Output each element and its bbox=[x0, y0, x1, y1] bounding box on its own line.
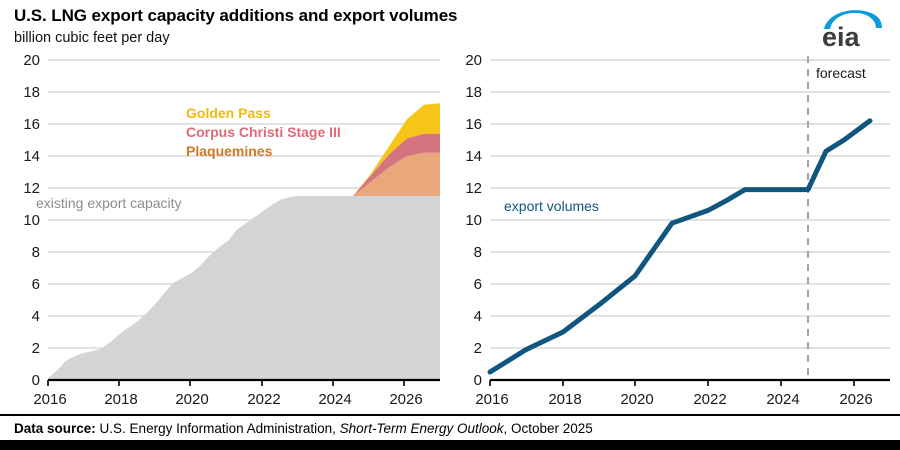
svg-text:18: 18 bbox=[465, 84, 482, 101]
forecast-label: forecast bbox=[816, 65, 866, 81]
svg-text:4: 4 bbox=[32, 308, 40, 325]
svg-text:14: 14 bbox=[465, 148, 482, 165]
svg-text:8: 8 bbox=[474, 244, 482, 261]
svg-text:0: 0 bbox=[32, 372, 40, 389]
line-export-volumes bbox=[490, 121, 870, 372]
svg-text:2016: 2016 bbox=[33, 391, 66, 408]
svg-text:10: 10 bbox=[23, 212, 40, 229]
svg-text:2020: 2020 bbox=[175, 391, 208, 408]
data-source-label: Data source: bbox=[14, 421, 96, 436]
svg-text:16: 16 bbox=[465, 116, 482, 133]
svg-text:2018: 2018 bbox=[548, 391, 581, 408]
svg-text:2022: 2022 bbox=[247, 391, 280, 408]
legend-corpus-christi: Corpus Christi Stage III bbox=[186, 124, 341, 140]
left-y-axis-labels: 20 18 16 14 12 10 8 6 4 2 0 bbox=[23, 52, 40, 389]
svg-text:10: 10 bbox=[465, 212, 482, 229]
svg-text:20: 20 bbox=[23, 52, 40, 69]
footer-bar bbox=[0, 440, 900, 450]
svg-text:2: 2 bbox=[474, 340, 482, 357]
svg-text:2020: 2020 bbox=[620, 391, 653, 408]
svg-text:2016: 2016 bbox=[475, 391, 508, 408]
left-chart-svg: Golden Pass Corpus Christi Stage III Pla… bbox=[0, 0, 460, 412]
data-source-date: , October 2025 bbox=[504, 421, 593, 436]
svg-text:14: 14 bbox=[23, 148, 40, 165]
right-y-axis-labels: 20 18 16 14 12 10 8 6 4 2 0 bbox=[465, 52, 482, 389]
svg-text:4: 4 bbox=[474, 308, 482, 325]
left-chart-panel: Golden Pass Corpus Christi Stage III Pla… bbox=[0, 0, 460, 450]
svg-text:2024: 2024 bbox=[766, 391, 799, 408]
legend-golden-pass: Golden Pass bbox=[186, 105, 271, 121]
svg-text:6: 6 bbox=[32, 276, 40, 293]
data-source-agency: U.S. Energy Information Administration, bbox=[100, 421, 336, 436]
svg-text:12: 12 bbox=[465, 180, 482, 197]
svg-text:8: 8 bbox=[32, 244, 40, 261]
svg-text:0: 0 bbox=[474, 372, 482, 389]
right-chart-panel: export volumes forecast 20 18 16 14 12 1… bbox=[450, 0, 900, 450]
svg-text:2026: 2026 bbox=[389, 391, 422, 408]
svg-text:2022: 2022 bbox=[693, 391, 726, 408]
svg-text:16: 16 bbox=[23, 116, 40, 133]
svg-text:12: 12 bbox=[23, 180, 40, 197]
svg-text:6: 6 bbox=[474, 276, 482, 293]
area-existing-capacity bbox=[48, 196, 440, 380]
left-x-axis-labels: 2016 2018 2020 2022 2024 2026 bbox=[33, 391, 422, 408]
svg-text:18: 18 bbox=[23, 84, 40, 101]
svg-text:2: 2 bbox=[32, 340, 40, 357]
chart-figure: U.S. LNG export capacity additions and e… bbox=[0, 0, 900, 450]
svg-text:20: 20 bbox=[465, 52, 482, 69]
svg-text:2026: 2026 bbox=[839, 391, 872, 408]
footer-divider bbox=[0, 414, 900, 416]
right-chart-svg: export volumes forecast 20 18 16 14 12 1… bbox=[450, 0, 900, 412]
legend-export-volumes: export volumes bbox=[504, 198, 599, 214]
legend-plaquemines: Plaquemines bbox=[186, 143, 273, 159]
legend-existing-capacity: existing export capacity bbox=[36, 195, 182, 211]
data-source-publication: Short-Term Energy Outlook bbox=[340, 421, 504, 436]
data-source-note: Data source: U.S. Energy Information Adm… bbox=[14, 421, 593, 436]
svg-text:2024: 2024 bbox=[318, 391, 351, 408]
svg-text:2018: 2018 bbox=[104, 391, 137, 408]
right-x-axis-labels: 2016 2018 2020 2022 2024 2026 bbox=[475, 391, 872, 408]
